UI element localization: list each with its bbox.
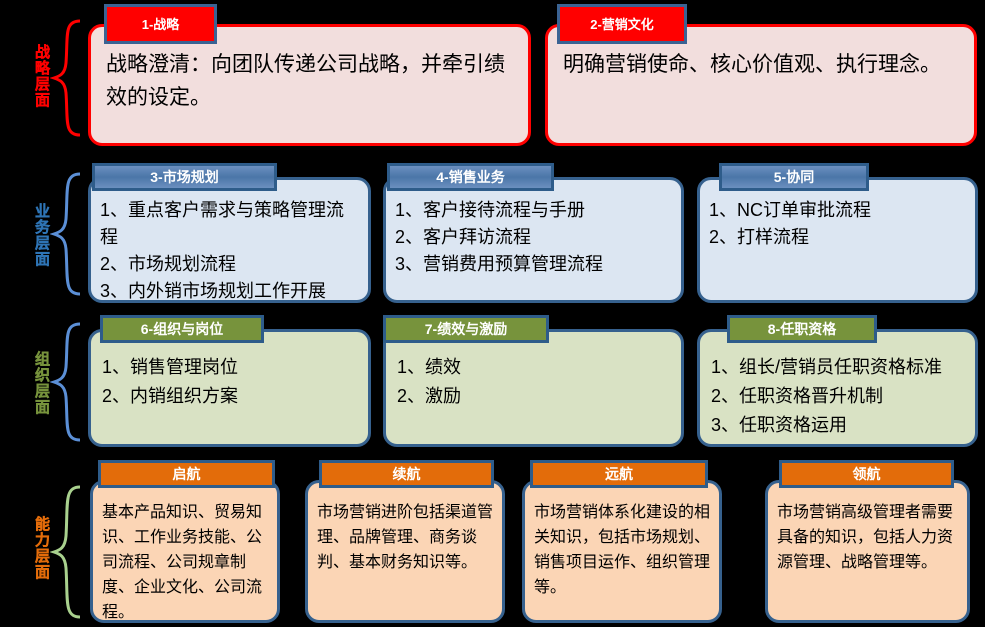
card-capability-2[interactable]: 续航 市场营销进阶包括渠道管理、品牌管理、商务谈判、基本财务知识等。 (305, 460, 505, 623)
layer-row-org: 组织层面 6-组织与岗位 1、销售管理岗位 2、内销组织方案 7-绩效与激励 1… (0, 315, 985, 447)
layer-row-strategy: 战略层面 1-战略 战略澄清：向团队传递公司战略，并牵引绩效的设定。 2-营销文… (0, 4, 985, 146)
brace-capability (50, 484, 84, 620)
card-tag-business-4[interactable]: 4-销售业务 (387, 163, 554, 191)
layer-label-org: 组织层面 (14, 333, 50, 433)
card-business-4[interactable]: 4-销售业务 1、客户接待流程与手册 2、客户拜访流程 3、营销费用预算管理流程 (383, 163, 684, 303)
brace-strategy (50, 18, 84, 138)
card-tag-strategy-2[interactable]: 2-营销文化 (557, 4, 687, 44)
card-tag-org-8[interactable]: 8-任职资格 (727, 315, 877, 343)
card-org-8[interactable]: 8-任职资格 1、组长/营销员任职资格标准 2、任职资格晋升机制 3、任职资格运… (697, 315, 978, 447)
layer-row-capability: 能力层面 启航 基本产品知识、贸易知识、工作业务技能、公司流程、公司规章制度、企… (0, 460, 985, 623)
card-tag-org-6[interactable]: 6-组织与岗位 (100, 315, 264, 343)
layer-label-capability: 能力层面 (14, 498, 50, 598)
card-tag-org-7[interactable]: 7-绩效与激励 (383, 315, 549, 343)
card-tag-capability-3[interactable]: 远航 (530, 460, 708, 488)
card-capability-3[interactable]: 远航 市场营销体系化建设的相关知识，包括市场规划、销售项目运作、组织管理等。 (522, 460, 722, 623)
brace-business (50, 171, 84, 297)
card-tag-business-5[interactable]: 5-协同 (719, 163, 869, 191)
card-capability-1[interactable]: 启航 基本产品知识、贸易知识、工作业务技能、公司流程、公司规章制度、企业文化、公… (90, 460, 280, 623)
card-org-6[interactable]: 6-组织与岗位 1、销售管理岗位 2、内销组织方案 (88, 315, 371, 447)
card-tag-capability-2[interactable]: 续航 (319, 460, 494, 488)
card-strategy-2[interactable]: 2-营销文化 明确营销使命、核心价值观、执行理念。 (545, 4, 977, 146)
layer-label-strategy: 战略层面 (14, 26, 50, 126)
card-tag-business-3[interactable]: 3-市场规划 (92, 163, 277, 191)
card-org-7[interactable]: 7-绩效与激励 1、绩效 2、激励 (383, 315, 684, 447)
layer-label-business: 业务层面 (14, 185, 50, 285)
card-tag-strategy-1[interactable]: 1-战略 (104, 4, 217, 44)
card-tag-capability-1[interactable]: 启航 (98, 460, 275, 488)
card-business-3[interactable]: 3-市场规划 1、重点客户需求与策略管理流程 2、市场规划流程 3、内外销市场规… (88, 163, 371, 303)
card-business-5[interactable]: 5-协同 1、NC订单审批流程 2、打样流程 (697, 163, 978, 303)
diagram-canvas: 战略层面 1-战略 战略澄清：向团队传递公司战略，并牵引绩效的设定。 2-营销文… (0, 0, 985, 627)
layer-row-business: 业务层面 3-市场规划 1、重点客户需求与策略管理流程 2、市场规划流程 3、内… (0, 163, 985, 303)
card-tag-capability-4[interactable]: 领航 (779, 460, 954, 488)
card-capability-4[interactable]: 领航 市场营销高级管理者需要具备的知识，包括人力资源管理、战略管理等。 (765, 460, 970, 623)
card-strategy-1[interactable]: 1-战略 战略澄清：向团队传递公司战略，并牵引绩效的设定。 (88, 4, 531, 146)
brace-org (50, 321, 84, 443)
